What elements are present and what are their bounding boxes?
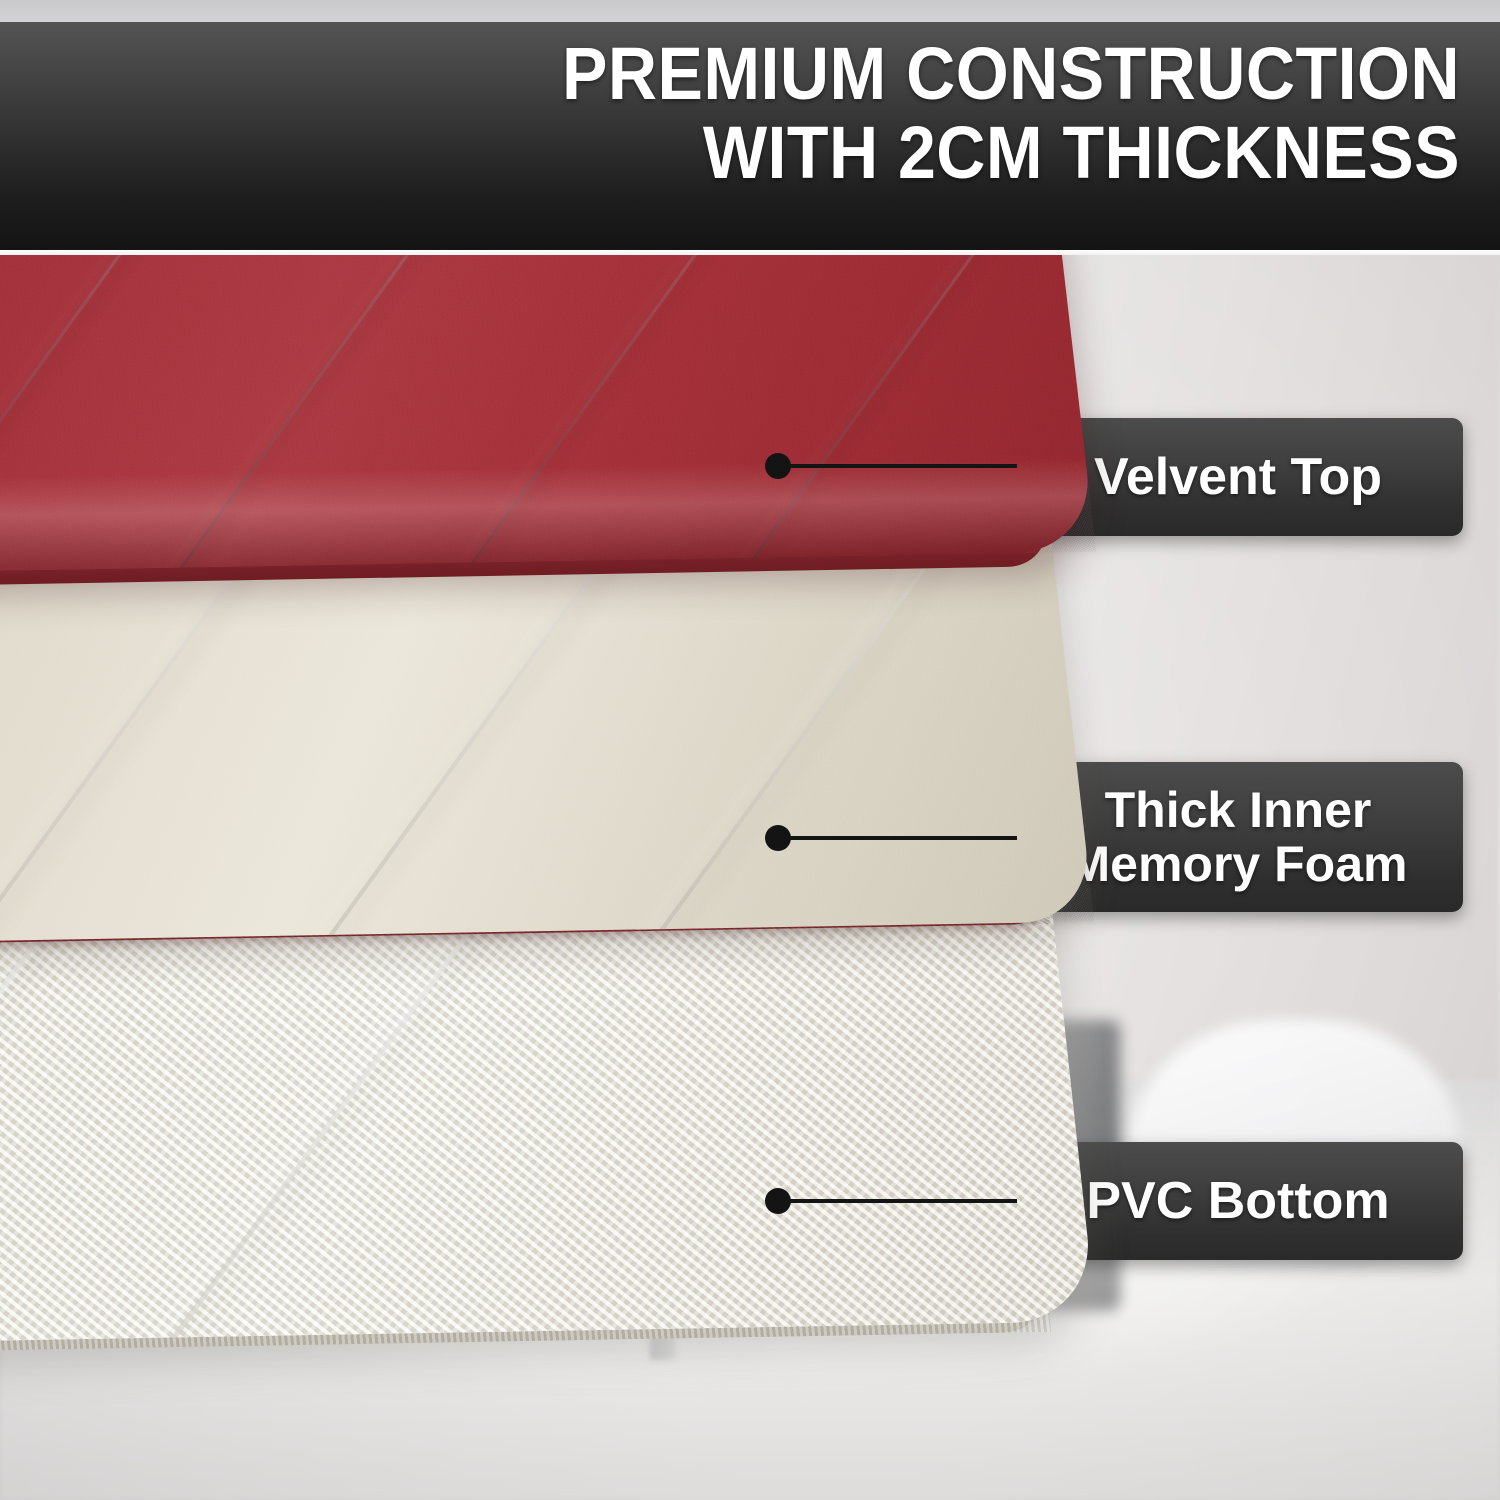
callout-velvent-top-label: Velvent Top: [1094, 449, 1382, 505]
header-title: PREMIUM CONSTRUCTION WITH 2CM THICKNESS: [117, 34, 1460, 192]
leader-dot-velvent-top: [765, 453, 791, 479]
callout-memory-foam-label-line1: Thick Inner: [1069, 783, 1408, 837]
header-title-line1: PREMIUM CONSTRUCTION: [562, 32, 1460, 115]
callout-pvc-bottom-label: PVC Bottom: [1086, 1173, 1389, 1229]
product-infographic: Velvent Top Thick Inner Memory Foam PVC …: [0, 0, 1500, 1500]
leader-line-memory-foam: [785, 836, 1017, 840]
header-title-line2: WITH 2CM THICKNESS: [117, 113, 1460, 192]
callout-memory-foam-label-line2: Memory Foam: [1069, 837, 1408, 891]
leader-line-pvc-bottom: [785, 1199, 1017, 1203]
leader-dot-pvc-bottom: [765, 1188, 791, 1214]
header-underline: [0, 250, 1500, 255]
leader-line-velvent-top: [785, 464, 1017, 468]
header-top-strip: [0, 0, 1500, 22]
leader-dot-memory-foam: [765, 825, 791, 851]
